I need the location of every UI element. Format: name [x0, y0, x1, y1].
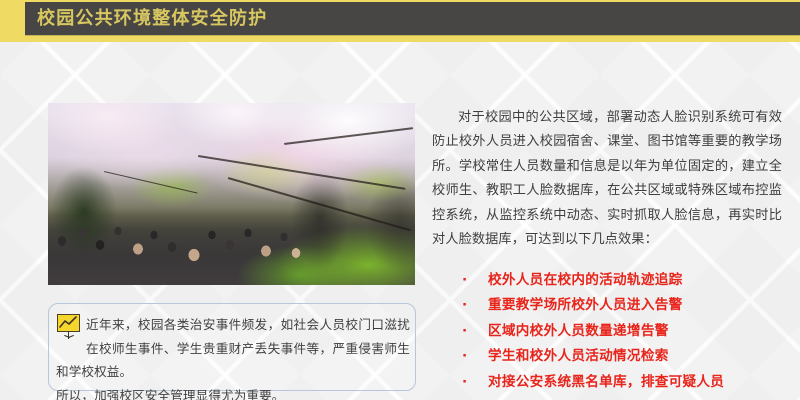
bullet-marker: ·: [462, 293, 467, 318]
chart-easel-icon: [57, 314, 81, 340]
bullet-marker: ·: [462, 344, 467, 369]
list-item: · 区域内校外人员数量递增告警: [460, 319, 790, 344]
photo-crowd-detail: [48, 213, 303, 285]
list-item: · 学生和校外人员活动情况检索: [460, 344, 790, 369]
list-item: · 校外人员在校内的活动轨迹追踪: [460, 268, 790, 293]
main-paragraph: 对于校园中的公共区域，部署动态人脸识别系统可有效防止校外人员进入校园宿舍、课堂、…: [432, 106, 782, 252]
list-item-label: 校外人员在校内的活动轨迹追踪: [488, 272, 683, 288]
list-item: · 对接公安系统黑名单库，排查可疑人员: [460, 370, 790, 395]
bullet-marker: ·: [462, 370, 467, 395]
header-bar: 校园公共环境整体安全防护: [25, 2, 800, 35]
callout-box: 近年来，校园各类治安事件频发，如社会人员校门口滋扰在校师生事件、学生贵重财产丢失…: [48, 303, 416, 391]
chart-easel-stand: [68, 335, 74, 339]
slide-canvas: 校园公共环境整体安全防护 对于校园中的公共区域，部署动态人脸识别系统可有效防止校…: [0, 0, 800, 400]
callout-content: 近年来，校园各类治安事件频发，如社会人员校门口滋扰在校师生事件、学生贵重财产丢失…: [56, 313, 410, 400]
list-item-label: 重要教学场所校外人员进入告警: [488, 297, 683, 313]
list-item-label: 学生和校外人员活动情况检索: [488, 348, 669, 364]
list-item: · 重要教学场所校外人员进入告警: [460, 293, 790, 318]
campus-photo: [48, 103, 415, 285]
list-item-label: 区域内校外人员数量递增告警: [488, 323, 669, 339]
bullet-marker: ·: [462, 268, 467, 293]
page-title: 校园公共环境整体安全防护: [25, 10, 267, 28]
callout-text-line-2: 所以，加强校区安全管理显得尤为重要。: [56, 388, 285, 400]
list-item-label: 对接公安系统黑名单库，排查可疑人员: [488, 374, 724, 390]
effects-bullet-list: · 校外人员在校内的活动轨迹追踪 · 重要教学场所校外人员进入告警 · 区域内校…: [460, 268, 790, 395]
callout-text-line-1: 近年来，校园各类治安事件频发，如社会人员校门口滋扰在校师生事件、学生贵重财产丢失…: [56, 317, 410, 379]
bullet-marker: ·: [462, 319, 467, 344]
